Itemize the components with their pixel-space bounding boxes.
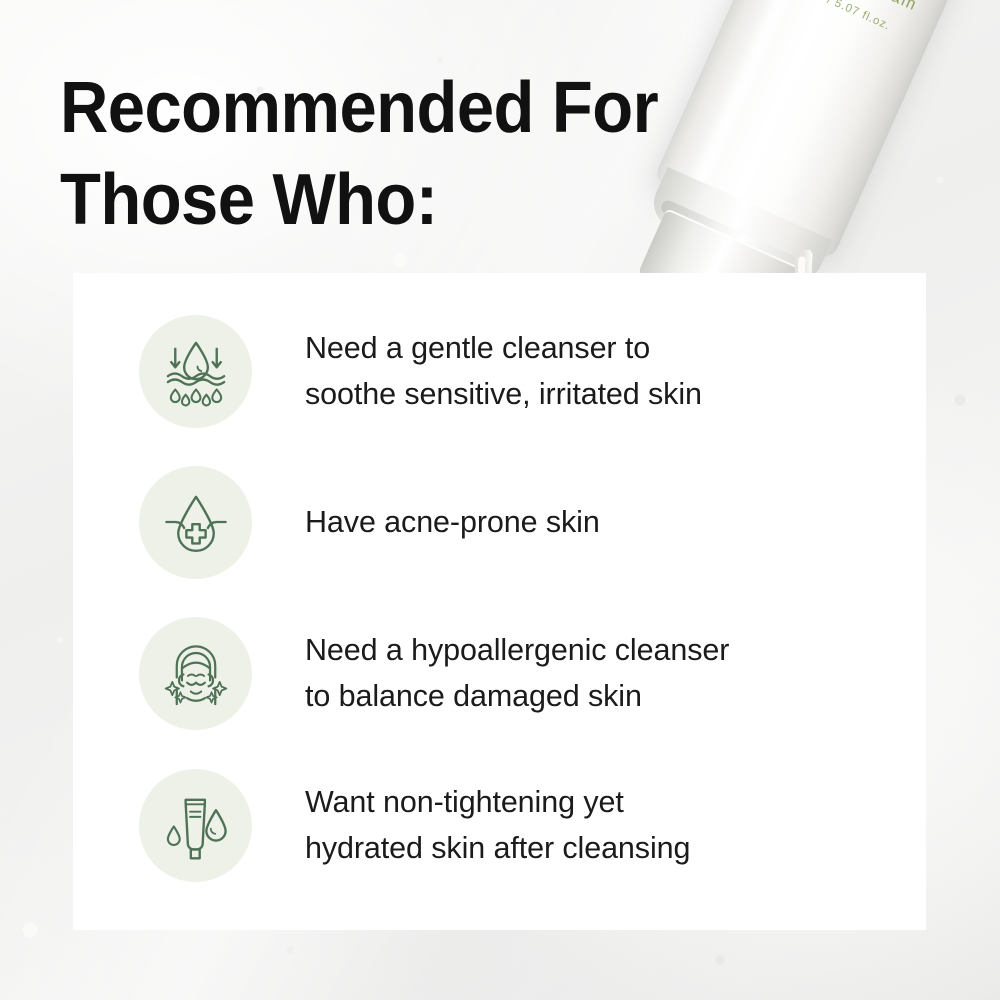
acne-care-droplet-icon	[139, 466, 252, 579]
benefit-row-hypoallergenic: Need a hypoallergenic cleanser to balanc…	[139, 597, 899, 749]
cream-tube-droplets-icon	[139, 769, 252, 882]
benefit-row-hydrated: Want non-tightening yet hydrated skin af…	[139, 749, 899, 901]
benefit-text: Need a gentle cleanser to soothe sensiti…	[305, 325, 702, 418]
promo-graphic: Centella Cleansing Foam 150 ml / 5.07 fl…	[0, 0, 1000, 1000]
hydration-absorption-icon	[139, 315, 252, 428]
benefits-list: Need a gentle cleanser to soothe sensiti…	[73, 273, 926, 930]
benefit-text: Want non-tightening yet hydrated skin af…	[305, 779, 690, 872]
page-title: Recommended For Those Who:	[60, 62, 711, 246]
glowing-face-icon	[139, 617, 252, 730]
benefit-text: Need a hypoallergenic cleanser to balanc…	[305, 627, 729, 720]
benefit-text: Have acne-prone skin	[305, 499, 600, 545]
benefit-row-acne: Have acne-prone skin	[139, 447, 899, 597]
benefits-card: Need a gentle cleanser to soothe sensiti…	[73, 273, 926, 930]
benefit-row-hydration: Need a gentle cleanser to soothe sensiti…	[139, 295, 899, 447]
